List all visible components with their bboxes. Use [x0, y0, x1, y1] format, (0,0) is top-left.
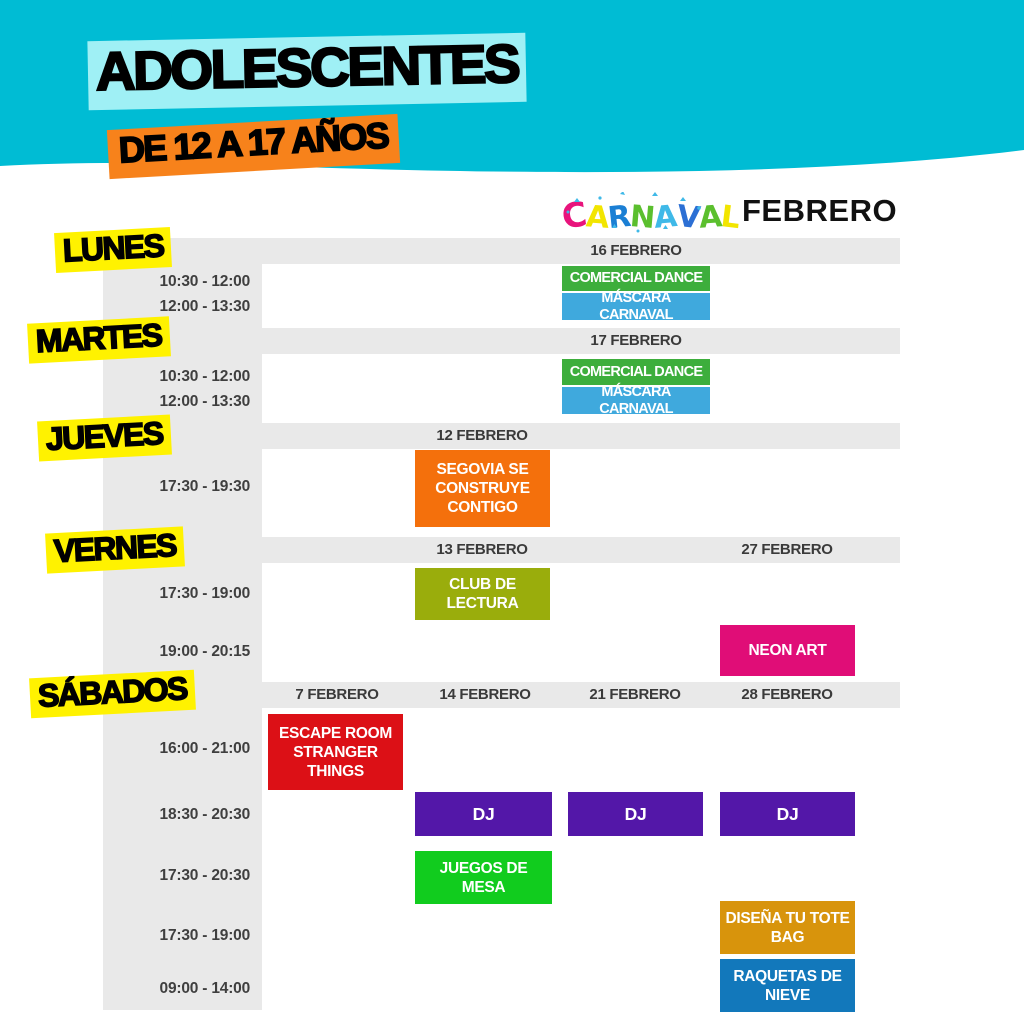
- activity-dj-14feb[interactable]: DJ: [415, 792, 552, 836]
- activity-mascara-carnaval-martes[interactable]: MÁSCARA CARNAVAL: [562, 387, 710, 414]
- date-label-martes-17feb: 17 FEBRERO: [590, 332, 681, 349]
- activity-dj-28feb[interactable]: DJ: [720, 792, 855, 836]
- day-tag-lunes: LUNES: [54, 227, 172, 273]
- date-label-vernes-13feb: 13 FEBRERO: [436, 541, 527, 558]
- day-tag-martes-label: MARTES: [35, 318, 162, 359]
- date-label-sabados-21feb: 21 FEBRERO: [589, 686, 680, 703]
- activity-comercial-dance-lunes[interactable]: COMERCIAL DANCE: [562, 266, 710, 291]
- date-label-sabados-7feb: 7 FEBRERO: [295, 686, 378, 703]
- activity-juegos-de-mesa[interactable]: JUEGOS DE MESA: [415, 851, 552, 904]
- time-label-sabados-4: 17:30 - 19:00: [110, 927, 250, 945]
- activity-dj-21feb[interactable]: DJ: [568, 792, 703, 836]
- day-tag-vernes-label: VERNES: [53, 528, 177, 568]
- time-label-vernes-2: 19:00 - 20:15: [110, 643, 250, 661]
- date-band-martes: [250, 328, 900, 354]
- time-label-sabados-1: 16:00 - 21:00: [110, 740, 250, 758]
- day-tag-jueves-label: JUEVES: [45, 416, 163, 456]
- time-label-sabados-2: 18:30 - 20:30: [110, 806, 250, 824]
- activity-club-de-lectura[interactable]: CLUB DE LECTURA: [415, 568, 550, 620]
- date-label-jueves-12feb: 12 FEBRERO: [436, 427, 527, 444]
- date-label-sabados-14feb: 14 FEBRERO: [439, 686, 530, 703]
- activity-raquetas-de-nieve[interactable]: RAQUETAS DE NIEVE: [720, 959, 855, 1012]
- date-label-vernes-27feb: 27 FEBRERO: [741, 541, 832, 558]
- time-label-vernes-1: 17:30 - 19:00: [110, 585, 250, 603]
- time-label-jueves-1: 17:30 - 19:30: [110, 478, 250, 496]
- date-band-lunes: [250, 238, 900, 264]
- activity-mascara-carnaval-lunes[interactable]: MÁSCARA CARNAVAL: [562, 293, 710, 320]
- day-tag-lunes-label: LUNES: [62, 228, 164, 267]
- time-label-lunes-2: 12:00 - 13:30: [110, 298, 250, 316]
- activity-comercial-dance-martes[interactable]: COMERCIAL DANCE: [562, 359, 710, 385]
- activity-segovia-se-construye-contigo[interactable]: SEGOVIA SE CONSTRUYE CONTIGO: [415, 450, 550, 527]
- activity-escape-room-stranger-things[interactable]: ESCAPE ROOM STRANGER THINGS: [268, 714, 403, 790]
- activity-neon-art[interactable]: NEON ART: [720, 625, 855, 676]
- activity-disena-tu-tote-bag[interactable]: DISEÑA TU TOTE BAG: [720, 901, 855, 954]
- day-tag-jueves: JUEVES: [37, 415, 172, 462]
- time-label-sabados-3: 17:30 - 20:30: [110, 867, 250, 885]
- date-band-jueves: [250, 423, 900, 449]
- date-label-sabados-28feb: 28 FEBRERO: [741, 686, 832, 703]
- date-label-lunes-16feb: 16 FEBRERO: [590, 242, 681, 259]
- time-label-lunes-1: 10:30 - 12:00: [110, 273, 250, 291]
- day-tag-sabados-label: SÁBADOS: [37, 671, 187, 713]
- day-tag-vernes: VERNES: [45, 526, 185, 573]
- time-label-sabados-5: 09:00 - 14:00: [110, 980, 250, 998]
- schedule-grid: 16 FEBRERO LUNES 10:30 - 12:00 12:00 - 1…: [0, 0, 1024, 1024]
- time-label-martes-2: 12:00 - 13:30: [110, 393, 250, 411]
- time-label-martes-1: 10:30 - 12:00: [110, 368, 250, 386]
- day-tag-martes: MARTES: [27, 316, 170, 363]
